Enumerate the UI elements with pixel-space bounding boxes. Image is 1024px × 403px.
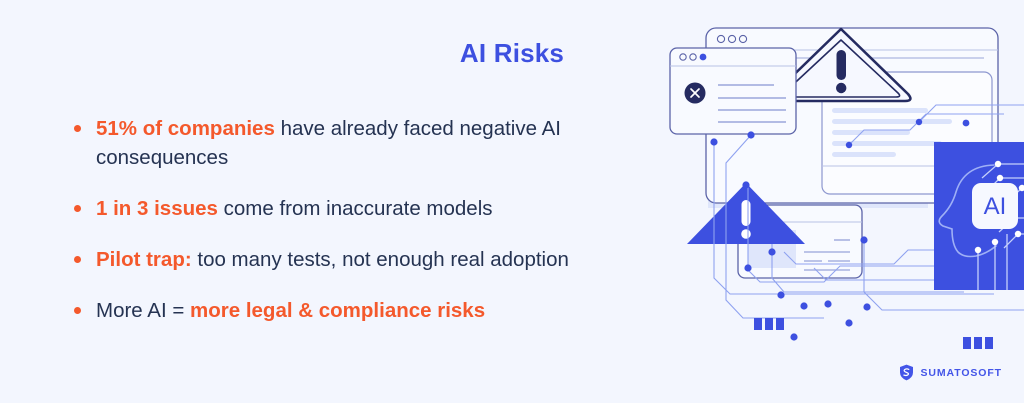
list-item: 1 in 3 issues come from inaccurate model… (66, 194, 686, 223)
circuit-node (863, 303, 870, 310)
circuit-node (997, 175, 1003, 181)
bullet-emphasis: 1 in 3 issues (96, 197, 218, 220)
shield-s-icon (899, 364, 914, 381)
circuit-node (768, 248, 775, 255)
bullet-dot-icon (74, 256, 81, 263)
circuit-node (963, 120, 970, 127)
risk-bullet-list: 51% of companies have already faced nega… (66, 114, 686, 326)
bullet-emphasis: 51% of companies (96, 117, 275, 140)
slide-root: AI Risks 51% of companies have already f… (0, 0, 1024, 403)
circuit-node (710, 138, 717, 145)
circuit-node (916, 119, 922, 125)
exclamation-dot (741, 229, 751, 239)
ai-brain-chip-card: AI (934, 142, 1024, 290)
circuit-node (975, 247, 981, 253)
bullet-item-text: Pilot trap: too many tests, not enough r… (96, 248, 569, 271)
circuit-node (800, 302, 807, 309)
ai-risk-illustration: AI (664, 0, 1024, 403)
exclamation-bar (742, 200, 751, 226)
circuit-node (845, 319, 852, 326)
list-item: 51% of companies have already faced nega… (66, 114, 686, 172)
bullet-item-text: 1 in 3 issues come from inaccurate model… (96, 197, 493, 220)
contact-bar (985, 337, 993, 349)
ai-badge-label: AI (984, 193, 1007, 220)
contact-bar (974, 337, 982, 349)
brand-logo: SUMATOSOFT (899, 364, 1002, 381)
circuit-node (1015, 231, 1021, 237)
illustration-svg: AI (664, 0, 1024, 403)
circuit-contact-bars (754, 318, 993, 349)
circuit-node (846, 142, 852, 148)
circuit-node (995, 161, 1001, 167)
bullet-emphasis: more legal & compliance risks (190, 299, 485, 322)
contact-bar (754, 318, 762, 330)
circuit-node (777, 291, 784, 298)
bullet-item-text: 51% of companies have already faced nega… (96, 117, 561, 169)
contact-bar (776, 318, 784, 330)
exclamation-bar (837, 50, 847, 80)
brand-name: SUMATOSOFT (920, 367, 1002, 379)
window-dot-active (700, 54, 707, 61)
contact-bar (963, 337, 971, 349)
list-item: Pilot trap: too many tests, not enough r… (66, 245, 686, 274)
bullet-normal: too many tests, not enough real adoption (192, 248, 569, 271)
contact-bar (765, 318, 773, 330)
circuit-node (742, 181, 749, 188)
circuit-node (824, 300, 831, 307)
circuit-node (860, 236, 867, 243)
bullet-dot-icon (74, 125, 81, 132)
circuit-node (992, 239, 998, 245)
bullet-dot-icon (74, 307, 81, 314)
circuit-node (747, 131, 754, 138)
bullet-item-text: More AI = more legal & compliance risks (96, 299, 485, 322)
circuit-node (744, 264, 751, 271)
list-item: More AI = more legal & compliance risks (66, 296, 686, 325)
browser-window-error (670, 48, 796, 134)
bullet-emphasis: Pilot trap: (96, 248, 192, 271)
bullet-normal: come from inaccurate models (218, 197, 493, 220)
exclamation-dot (836, 83, 846, 93)
bullet-dot-icon (74, 205, 81, 212)
bullet-normal: More AI = (96, 299, 190, 322)
circuit-node (790, 333, 797, 340)
